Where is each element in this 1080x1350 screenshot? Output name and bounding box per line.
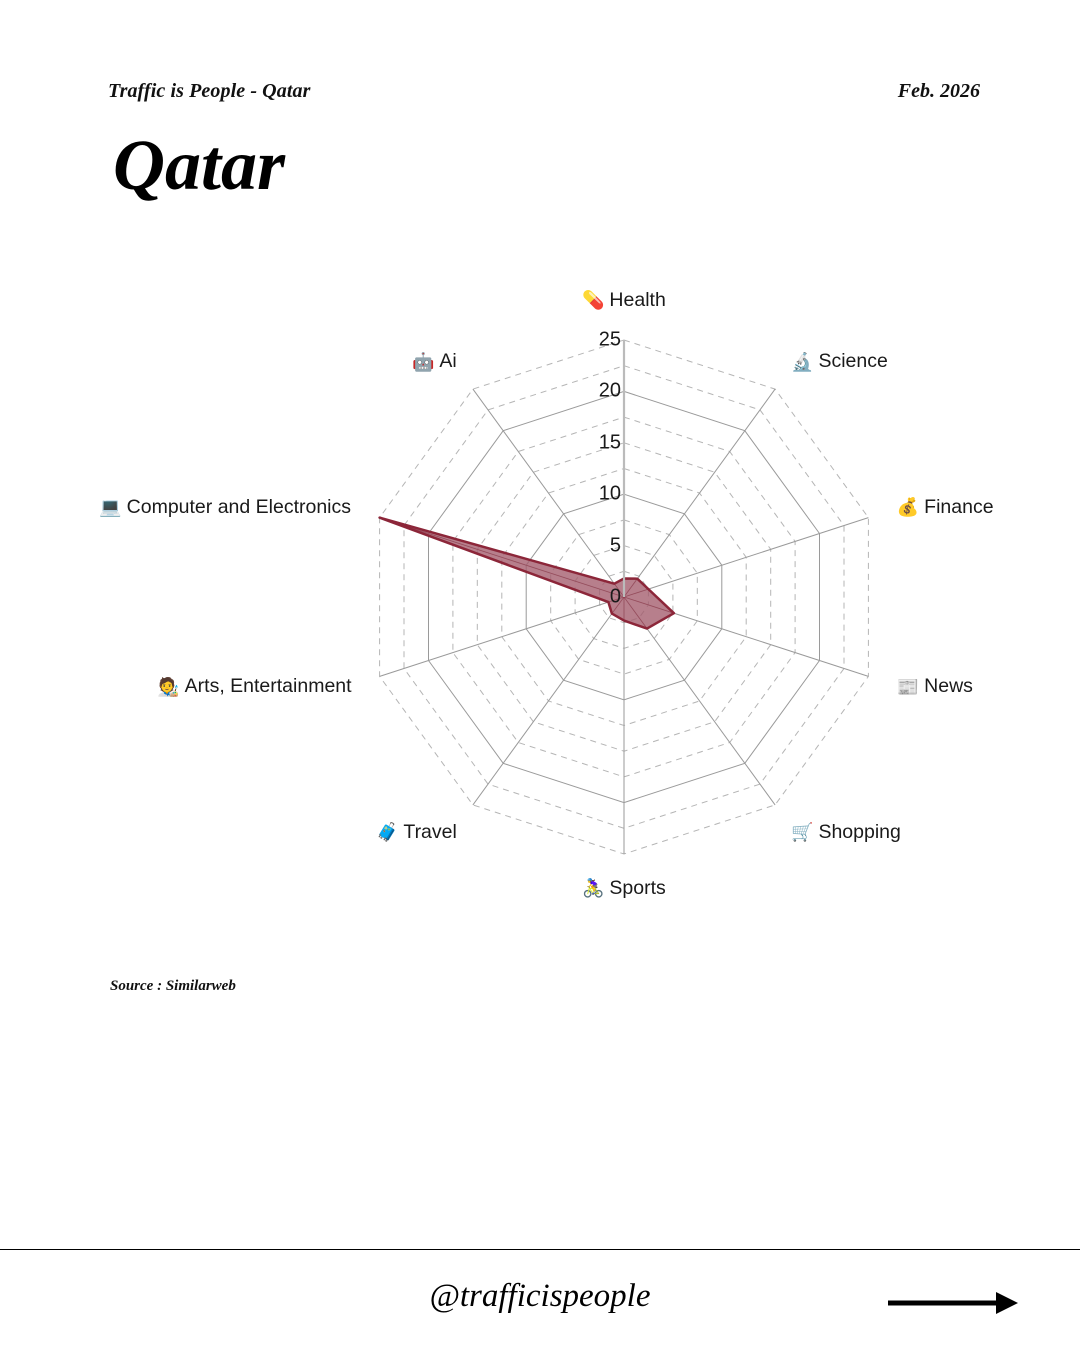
radar-category-label: 📰News	[897, 675, 973, 698]
header-date: Feb. 2026	[898, 80, 980, 103]
category-emoji-icon: 📰	[897, 678, 919, 696]
radial-tick-label: 0	[610, 586, 621, 609]
category-name: Ai	[439, 350, 456, 373]
radar-chart-svg	[0, 280, 1080, 920]
radial-tick-label: 5	[610, 534, 621, 557]
radar-category-label: 💰Finance	[897, 496, 994, 519]
arrow-right-icon	[886, 1288, 1018, 1318]
radar-category-label: 🤖Ai	[412, 350, 457, 373]
category-name: Finance	[924, 496, 993, 519]
category-emoji-icon: 🧑‍🎨	[157, 678, 179, 696]
category-name: Science	[818, 350, 887, 373]
category-name: Travel	[403, 821, 456, 844]
radar-chart: 💊Health🔬Science💰Finance📰News🛒Shopping🚴‍♀…	[0, 280, 1080, 920]
category-name: Arts, Entertainment	[185, 675, 352, 698]
category-emoji-icon: 🔬	[791, 353, 813, 371]
radar-category-label: 🛒Shopping	[791, 821, 901, 844]
category-emoji-icon: 💰	[897, 498, 919, 516]
radar-category-label: 🔬Science	[791, 350, 888, 373]
footer-divider	[0, 1249, 1080, 1250]
radial-tick-label: 25	[599, 329, 621, 352]
radar-axis-spoke	[473, 597, 624, 805]
radial-tick-label: 10	[599, 483, 621, 506]
radial-tick-label: 20	[599, 380, 621, 403]
radar-category-label: 🧳Travel	[376, 821, 457, 844]
radar-category-label: 💻Computer and Electronics	[99, 496, 351, 519]
category-emoji-icon: 🤖	[412, 353, 434, 371]
header-left-title: Traffic is People - Qatar	[108, 80, 310, 103]
radar-axis-spoke	[624, 389, 775, 597]
category-emoji-icon: 💻	[99, 498, 121, 516]
category-name: Computer and Electronics	[127, 496, 351, 519]
radial-tick-label: 15	[599, 431, 621, 454]
category-name: Sports	[609, 877, 665, 900]
radar-axis-spoke	[624, 518, 868, 597]
radar-category-label: 🚴‍♀️Sports	[582, 877, 666, 900]
radar-category-label: 💊Health	[582, 289, 666, 312]
poster-page: Traffic is People - Qatar Feb. 2026 Qata…	[0, 0, 1080, 1350]
radar-category-label: 🧑‍🎨Arts, Entertainment	[157, 675, 351, 698]
category-emoji-icon: 🛒	[791, 823, 813, 841]
category-emoji-icon: 🧳	[376, 823, 398, 841]
category-name: News	[924, 675, 973, 698]
source-note: Source : Similarweb	[110, 978, 236, 995]
category-name: Health	[609, 289, 665, 312]
category-emoji-icon: 🚴‍♀️	[582, 879, 604, 897]
page-title: Qatar	[113, 125, 285, 205]
category-name: Shopping	[818, 821, 900, 844]
radar-series-area	[380, 518, 674, 629]
category-emoji-icon: 💊	[582, 291, 604, 309]
